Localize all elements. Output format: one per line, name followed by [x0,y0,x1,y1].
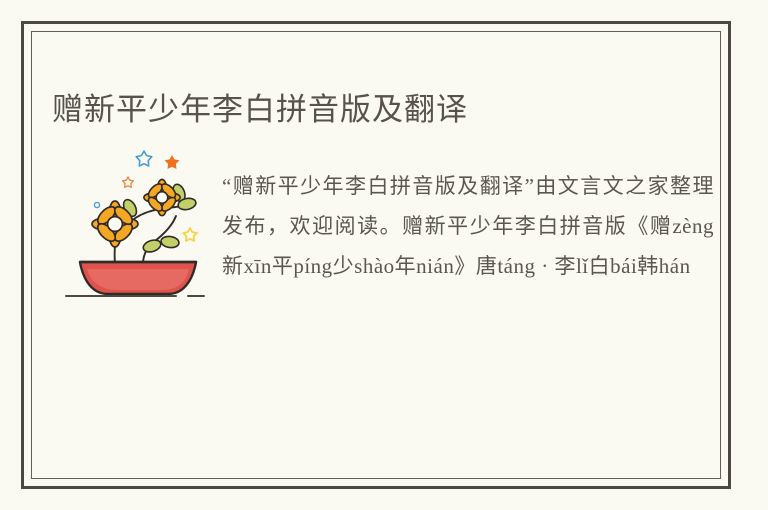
potted-flowers-svg [58,142,218,310]
article-body-text: “赠新平少年李白拼音版及翻译”由文言文之家整理发布，欢迎阅读。赠新平少年李白拼音… [222,166,714,286]
page-title: 赠新平少年李白拼音版及翻译 [52,89,468,131]
sparkle-icon-small-blue [94,202,99,207]
sparkle-icon-yellow [183,228,197,241]
sparkle-icon-blue [136,151,152,166]
potted-flowers-illustration [58,142,218,310]
sparkle-icon-orange-star [165,155,180,169]
sparkle-icon-small-orange [123,177,134,187]
page-root: 赠新平少年李白拼音版及翻译 [0,0,768,510]
flower-pot [80,262,196,294]
